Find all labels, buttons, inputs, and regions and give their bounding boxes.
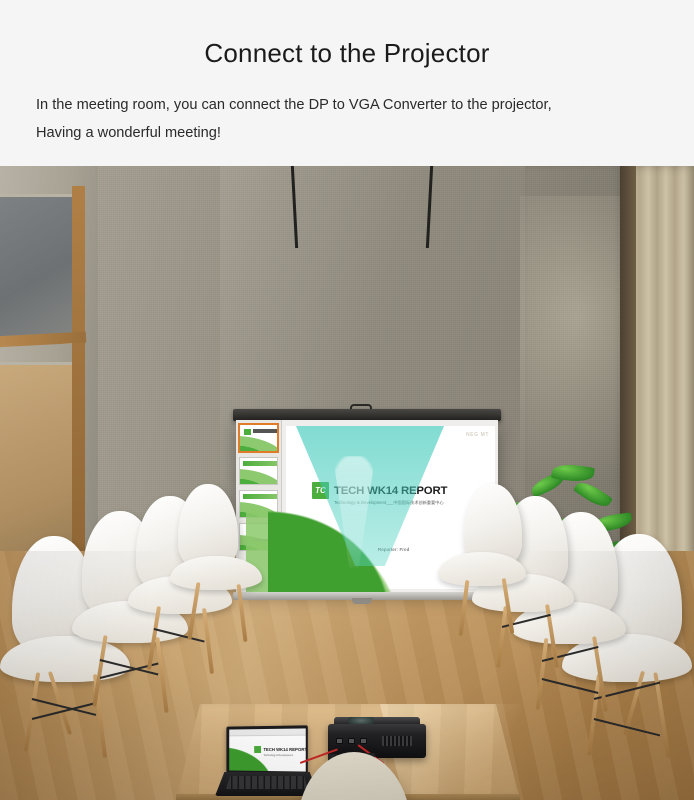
chair-right-4 bbox=[428, 484, 538, 680]
page-root: Connect to the Projector In the meeting … bbox=[0, 0, 694, 800]
page-description: In the meeting room, you can connect the… bbox=[36, 91, 662, 147]
slide-thumbnail-1[interactable] bbox=[239, 424, 278, 452]
chair-seat bbox=[170, 556, 262, 590]
screen-pull-tab bbox=[352, 598, 372, 604]
thumb-swoosh bbox=[239, 435, 278, 452]
chair-left-4 bbox=[166, 484, 282, 684]
header-section: Connect to the Projector In the meeting … bbox=[0, 0, 694, 166]
chair-leg bbox=[653, 672, 670, 758]
projector-port-vga bbox=[336, 738, 343, 744]
slide-watermark: NEG MT bbox=[466, 432, 489, 438]
chair-leg bbox=[459, 580, 470, 636]
projector-port-hdmi bbox=[348, 738, 355, 744]
thumb-title-bar bbox=[253, 429, 277, 433]
chair-center-foreground bbox=[289, 752, 419, 800]
thumb-logo-icon bbox=[244, 429, 251, 435]
description-line-1: In the meeting room, you can connect the… bbox=[36, 97, 552, 113]
page-title: Connect to the Projector bbox=[0, 0, 694, 69]
projector-port-input bbox=[360, 738, 367, 744]
glass-pane-upper bbox=[0, 194, 82, 344]
laptop-app-toolbar bbox=[229, 728, 305, 736]
chair-backrest bbox=[297, 752, 411, 800]
description-line-2: Having a wonderful meeting! bbox=[36, 119, 662, 147]
meeting-room-photo: NEG MT TC TECH WK14 REPORT Technology & … bbox=[0, 166, 694, 800]
chair-leg bbox=[92, 635, 107, 707]
chair-leg bbox=[236, 584, 247, 642]
chair-leg bbox=[187, 582, 200, 640]
chair-leg bbox=[24, 672, 40, 752]
laptop-logo-icon bbox=[254, 746, 261, 753]
chair-leg bbox=[147, 606, 161, 670]
chair-leg bbox=[502, 578, 515, 634]
laptop-slide-title: TECH WK14 REPORT bbox=[264, 746, 306, 751]
projector-vent bbox=[382, 736, 412, 746]
